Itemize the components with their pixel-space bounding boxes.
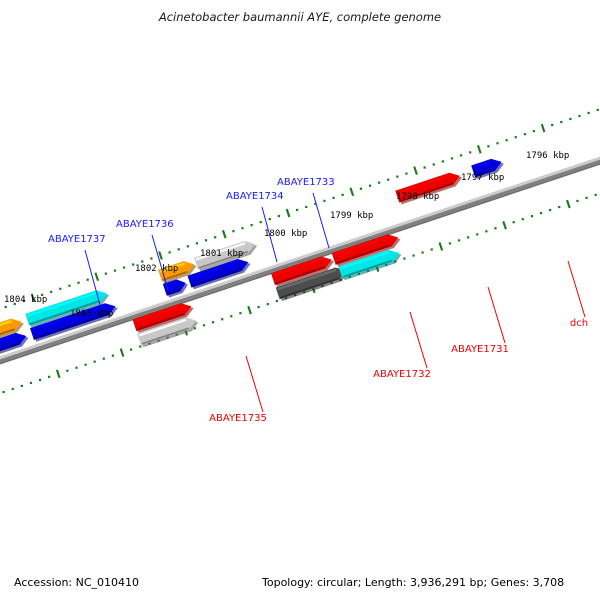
axis-tick-label: 1796 kbp bbox=[526, 151, 569, 161]
genome-map-viewer: Acinetobacter baumannii AYE, complete ge… bbox=[0, 0, 600, 600]
axis-tick-label: 1798 kbp bbox=[396, 192, 439, 202]
axis-tick-label: 1801 kbp bbox=[200, 249, 243, 259]
gene-label-forward[interactable]: ABAYE1736 bbox=[116, 219, 174, 230]
gene-label-forward[interactable]: ABAYE1734 bbox=[226, 191, 284, 202]
genome-summary-text: Topology: circular; Length: 3,936,291 bp… bbox=[261, 576, 564, 589]
axis-tick-label: 1802 kbp bbox=[135, 264, 178, 274]
page-title: Acinetobacter baumannii AYE, complete ge… bbox=[158, 10, 441, 24]
axis-tick-label: 1799 kbp bbox=[330, 211, 373, 221]
gene-label-reverse[interactable]: dch bbox=[570, 318, 588, 329]
gene-label-reverse[interactable]: ABAYE1732 bbox=[373, 369, 431, 380]
axis-tick-label: 1803 kbp bbox=[70, 309, 113, 319]
axis-tick-label: 1804 kbp bbox=[4, 295, 47, 305]
genome-map-canvas[interactable]: Acinetobacter baumannii AYE, complete ge… bbox=[0, 0, 600, 600]
axis-tick-label: 1797 kbp bbox=[461, 173, 504, 183]
gene-label-reverse[interactable]: ABAYE1735 bbox=[209, 413, 267, 424]
gene-label-forward[interactable]: ABAYE1737 bbox=[48, 234, 106, 245]
gene-label-forward[interactable]: ABAYE1733 bbox=[277, 177, 335, 188]
accession-text: Accession: NC_010410 bbox=[14, 576, 139, 589]
gene-label-reverse[interactable]: ABAYE1731 bbox=[451, 344, 509, 355]
